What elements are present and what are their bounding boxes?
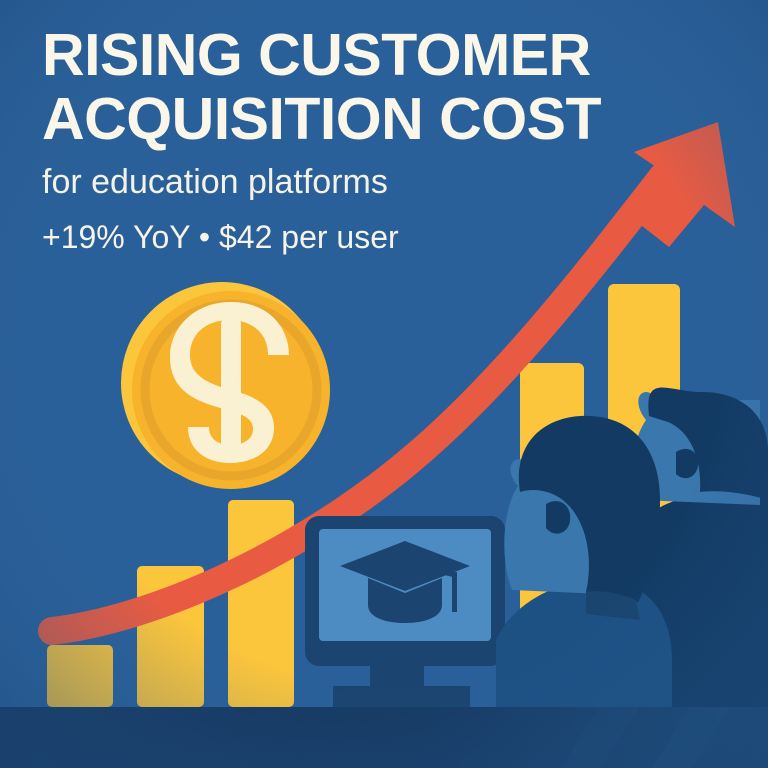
- vignette-overlay: [0, 0, 768, 768]
- infographic-poster: RISING CUSTOMER ACQUISITION COST for edu…: [0, 0, 768, 768]
- scene-illustration: [0, 0, 768, 768]
